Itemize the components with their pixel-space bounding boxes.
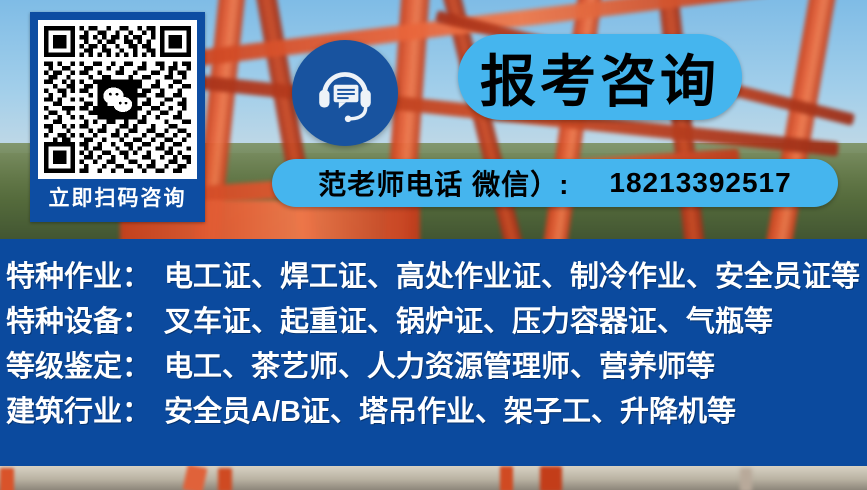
category-row-grade-appraisal: 等级鉴定： 电工、茶艺师、人力资源管理师、营养师等 bbox=[6, 343, 867, 388]
category-row-construction-industry: 建筑行业： 安全员A/B证、塔吊作业、架子工、升降机等 bbox=[6, 388, 867, 433]
qr-code-icon bbox=[44, 26, 191, 173]
strip-bar bbox=[0, 468, 14, 490]
consult-title-text: 报考咨询 bbox=[480, 37, 720, 118]
qr-code-image[interactable] bbox=[38, 20, 197, 179]
contact-label: 范老师电话 微信）: bbox=[318, 163, 569, 203]
consult-title-pill[interactable]: 报考咨询 bbox=[458, 34, 742, 120]
category-label: 特种设备： bbox=[6, 298, 164, 340]
category-items: 电工、茶艺师、人力资源管理师、营养师等 bbox=[164, 343, 715, 385]
headset-chat-icon bbox=[312, 60, 378, 126]
category-items: 电工证、焊工证、高处作业证、制冷作业、安全员证等 bbox=[164, 253, 860, 295]
strip-bar bbox=[540, 466, 562, 490]
category-items: 叉车证、起重证、锅炉证、压力容器证、气瓶等 bbox=[164, 298, 773, 340]
contact-phone-pill[interactable]: 范老师电话 微信）: 18213392517 bbox=[272, 159, 838, 207]
category-label: 建筑行业： bbox=[6, 388, 164, 430]
category-row-special-equipment: 特种设备： 叉车证、起重证、锅炉证、压力容器证、气瓶等 bbox=[6, 298, 867, 343]
strip-bar bbox=[500, 466, 513, 490]
strip-bar bbox=[183, 466, 208, 490]
qr-card-label: 立即扫码咨询 bbox=[49, 179, 187, 219]
customer-service-badge bbox=[292, 40, 398, 146]
strip-bar bbox=[740, 468, 752, 490]
strip-bar bbox=[218, 468, 232, 490]
promo-poster: 立即扫码咨询 报考咨询 范老师电话 微信）: 18213392517 bbox=[0, 0, 867, 490]
category-label: 特种作业： bbox=[6, 253, 164, 295]
category-row-special-operations: 特种作业： 电工证、焊工证、高处作业证、制冷作业、安全员证等 bbox=[6, 253, 867, 298]
certification-categories-panel: 特种作业： 电工证、焊工证、高处作业证、制冷作业、安全员证等 特种设备： 叉车证… bbox=[0, 239, 867, 466]
category-label: 等级鉴定： bbox=[6, 343, 164, 385]
contact-phone-number[interactable]: 18213392517 bbox=[609, 167, 791, 199]
category-items: 安全员A/B证、塔吊作业、架子工、升降机等 bbox=[164, 388, 736, 430]
qr-code-card[interactable]: 立即扫码咨询 bbox=[30, 12, 205, 222]
bottom-photo-strip bbox=[0, 466, 867, 490]
